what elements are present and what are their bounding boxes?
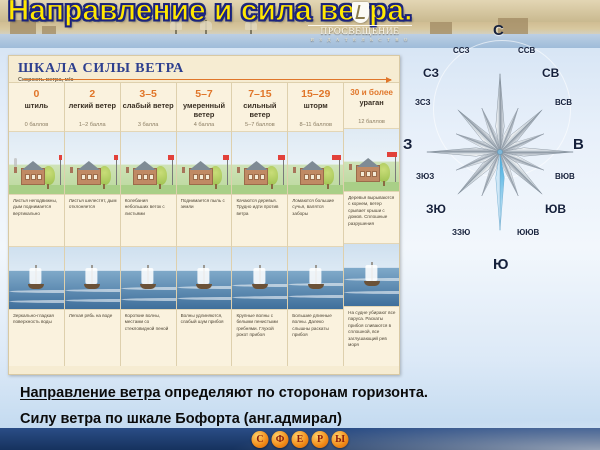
ship-icon	[196, 284, 212, 289]
window	[366, 171, 371, 177]
window	[254, 174, 259, 180]
column-points: 8–11 баллов	[288, 120, 343, 132]
wind-scale-column: 15–29шторм8–11 балловЛомаются большие су…	[288, 83, 344, 366]
ship-sail	[86, 268, 98, 284]
arrow-right-icon	[23, 79, 391, 80]
land-illustration	[232, 132, 287, 195]
compass-label-nw: СЗ	[423, 66, 439, 80]
ground	[177, 185, 232, 194]
column-name: сильный ветер	[232, 102, 287, 120]
land-description: Колебания небольших веток с листьями	[121, 195, 176, 246]
column-speed: 5–7	[177, 83, 232, 102]
wind-scale-column: 7–15сильный ветер5–7 балловКачаются дере…	[232, 83, 288, 366]
sea-illustration	[232, 246, 287, 310]
sea-illustration	[65, 246, 120, 310]
land-description: Поднимается пыль с земли	[177, 195, 232, 246]
flag-icon	[332, 155, 341, 160]
sea-description: Большие длинные волны. Далеко слышны рас…	[288, 310, 343, 339]
flag-icon	[59, 155, 62, 160]
flag-pole	[339, 155, 340, 185]
column-points: 1–2 балла	[65, 120, 120, 132]
compass-label-nne: ССВ	[518, 46, 535, 55]
compass-label-wnw: ЗСЗ	[415, 98, 431, 107]
flag-pole	[172, 155, 173, 185]
ship-icon	[252, 284, 268, 289]
chimney	[126, 167, 129, 173]
column-name: шторм	[288, 102, 343, 120]
conclusion-line-1: Направление ветра определяют по сторонам…	[20, 385, 428, 401]
compass-label-ene: ВСВ	[555, 98, 572, 107]
house-icon	[356, 165, 380, 182]
land-illustration	[344, 129, 399, 192]
ship-icon	[364, 281, 380, 286]
flag-icon	[278, 155, 286, 160]
window	[137, 174, 142, 180]
compass-label-nnw: ССЗ	[453, 46, 469, 55]
land-illustration	[177, 132, 232, 195]
column-points: 5–7 баллов	[232, 120, 287, 132]
window	[93, 174, 98, 180]
flag-pole	[116, 155, 117, 185]
ship-sail	[309, 268, 321, 284]
column-name: умеренный ветер	[177, 102, 232, 120]
chimney	[237, 167, 240, 173]
sea-illustration	[288, 246, 343, 310]
flag-pole	[395, 152, 396, 182]
ship-sail	[365, 265, 377, 281]
ship-icon	[140, 284, 156, 289]
publisher-name: ПРОСВЕЩЕНИЕ	[300, 27, 420, 37]
wave	[9, 300, 64, 303]
ground	[232, 185, 287, 194]
column-points: 12 баллов	[344, 117, 399, 129]
sea-description: Волны удлиняются, слабый шум прибоя	[177, 310, 232, 326]
window	[248, 174, 253, 180]
compass-rose: С ССВ СВ ВСВ В ВЮВ ЮВ ЮЮВ Ю ЗЗЮ ЗЮ ЗЮЗ З…	[405, 18, 595, 286]
ground	[9, 185, 64, 194]
sfery-letter: Р	[312, 431, 329, 448]
sfery-logo: СФЕРЫ	[252, 431, 349, 448]
chimney	[349, 164, 352, 170]
wave	[288, 295, 343, 298]
wind-scale-table: ШКАЛА СИЛЫ ВЕТРА Скорость ветра, м/с 0шт…	[8, 55, 400, 375]
window	[304, 174, 309, 180]
flag-pole	[60, 155, 61, 185]
land-illustration	[288, 132, 343, 195]
window	[205, 174, 210, 180]
sfery-letter: С	[252, 431, 269, 448]
column-speed: 30 и более	[344, 83, 399, 99]
logo-divider	[308, 25, 412, 26]
land-description: Листья шелестят, дым отклоняется	[65, 195, 120, 246]
sfery-letter: Е	[292, 431, 309, 448]
wind-scale-columns: 0штиль0 балловЛистья неподвижны, дым под…	[9, 82, 399, 366]
wave	[232, 296, 287, 299]
flag-icon	[387, 152, 397, 157]
sfery-letter: Ы	[332, 431, 349, 448]
land-illustration	[65, 132, 120, 195]
chimney	[293, 167, 296, 173]
ship-icon	[308, 284, 324, 289]
footer-swoosh	[180, 416, 600, 450]
sfery-letter: Ф	[272, 431, 289, 448]
compass-label-wsw: ЗЮЗ	[416, 172, 434, 181]
ship-sail	[30, 268, 42, 284]
window	[193, 174, 198, 180]
compass-label-sw: ЗЮ	[426, 202, 446, 216]
flag-icon	[168, 155, 173, 160]
column-points: 0 баллов	[9, 120, 64, 132]
ground	[288, 185, 343, 194]
wind-scale-column: 2легкий ветер1–2 баллаЛистья шелестят, д…	[65, 83, 121, 366]
chimney	[70, 167, 73, 173]
wind-scale-column: 5–7умеренный ветер4 баллаПоднимается пыл…	[177, 83, 233, 366]
column-points: 3 балла	[121, 120, 176, 132]
compass-label-ssw: ЗЗЮ	[452, 228, 470, 237]
sea-illustration	[121, 246, 176, 310]
smoke-icon	[14, 158, 17, 167]
window	[360, 171, 365, 177]
compass-label-sse: ЮЮВ	[517, 228, 539, 237]
window	[199, 174, 204, 180]
column-speed: 2	[65, 83, 120, 102]
ground	[121, 185, 176, 194]
wave	[177, 297, 232, 300]
ship-sail	[197, 268, 209, 284]
column-name: ураган	[344, 99, 399, 117]
window	[143, 174, 148, 180]
window	[260, 174, 265, 180]
wave	[65, 299, 120, 302]
compass-label-n: С	[493, 22, 504, 39]
column-speed: 15–29	[288, 83, 343, 102]
land-illustration	[9, 132, 64, 195]
ship-icon	[84, 284, 100, 289]
shield-logo-icon	[352, 2, 369, 23]
compass-label-e: В	[573, 136, 584, 153]
ground	[344, 182, 399, 191]
window	[316, 174, 321, 180]
compass-label-se: ЮВ	[545, 202, 566, 216]
ship-icon	[28, 284, 44, 289]
wave	[9, 290, 64, 293]
house-icon	[189, 168, 213, 185]
column-name: слабый ветер	[121, 102, 176, 120]
window	[25, 174, 30, 180]
column-name: штиль	[9, 102, 64, 120]
flag-pole	[227, 155, 228, 185]
column-speed: 0	[9, 83, 64, 102]
wave	[344, 291, 399, 294]
wind-scale-column: 0штиль0 балловЛистья неподвижны, дым под…	[9, 83, 65, 366]
window	[372, 171, 377, 177]
window	[149, 174, 154, 180]
conclusion-line-1-underlined: Направление ветра	[20, 385, 160, 401]
house-icon	[244, 168, 268, 185]
compass-label-ne: СВ	[542, 66, 559, 80]
window	[37, 174, 42, 180]
window	[31, 174, 36, 180]
ground	[65, 185, 120, 194]
ship-sail	[142, 268, 154, 284]
ship-sail	[253, 268, 265, 284]
house-icon	[77, 168, 101, 185]
sea-description: Зеркально-гладкая поверхность воды	[9, 310, 64, 326]
window	[87, 174, 92, 180]
column-name: легкий ветер	[65, 102, 120, 120]
sea-illustration	[344, 243, 399, 307]
sea-illustration	[9, 246, 64, 310]
publisher-subtitle: И З Д А Т Е Л Ь С Т В О	[300, 37, 420, 42]
compass-label-ese: ВЮВ	[555, 172, 575, 181]
wind-scale-column: 3–5слабый ветер3 баллаКолебания небольши…	[121, 83, 177, 366]
house-icon	[133, 168, 157, 185]
land-illustration	[121, 132, 176, 195]
land-description: Листья неподвижны, дым поднимается верти…	[9, 195, 64, 246]
window	[81, 174, 86, 180]
flag-icon	[114, 155, 118, 160]
chimney	[14, 167, 17, 173]
sea-description: Короткие волны, местами со стекловидной …	[121, 310, 176, 332]
conclusion-line-1-rest: определяют по сторонам горизонта.	[160, 385, 428, 401]
compass-label-w: З	[403, 136, 412, 153]
sea-illustration	[177, 246, 232, 310]
wind-scale-column: 30 и болееураган12 балловДеревья вырываю…	[344, 83, 399, 366]
column-speed: 7–15	[232, 83, 287, 102]
sea-description: Крупные волны с белыми пенистыми гребням…	[232, 310, 287, 339]
column-speed: 3–5	[121, 83, 176, 102]
house-icon	[21, 168, 45, 185]
land-description: Деревья вырываются с корнем, ветер срыва…	[344, 192, 399, 243]
window	[310, 174, 315, 180]
chimney	[182, 167, 185, 173]
land-description: Ломаются большие сучья, валятся заборы	[288, 195, 343, 246]
publisher-logo: ПРОСВЕЩЕНИЕ И З Д А Т Е Л Ь С Т В О	[300, 2, 420, 42]
wave	[121, 298, 176, 301]
house-icon	[300, 168, 324, 185]
flag-icon	[223, 155, 230, 160]
flag-pole	[283, 155, 284, 185]
land-description: Качаются деревья. Трудно идти против вет…	[232, 195, 287, 246]
column-points: 4 балла	[177, 120, 232, 132]
sea-description: На судне убирают все паруса. Раскаты при…	[344, 307, 399, 348]
compass-label-s: Ю	[493, 256, 508, 273]
sea-description: Легкая рябь на воде	[65, 310, 120, 319]
slide-canvas: ПРОСВЕЩЕНИЕ И З Д А Т Е Л Ь С Т В О Напр…	[0, 0, 600, 450]
